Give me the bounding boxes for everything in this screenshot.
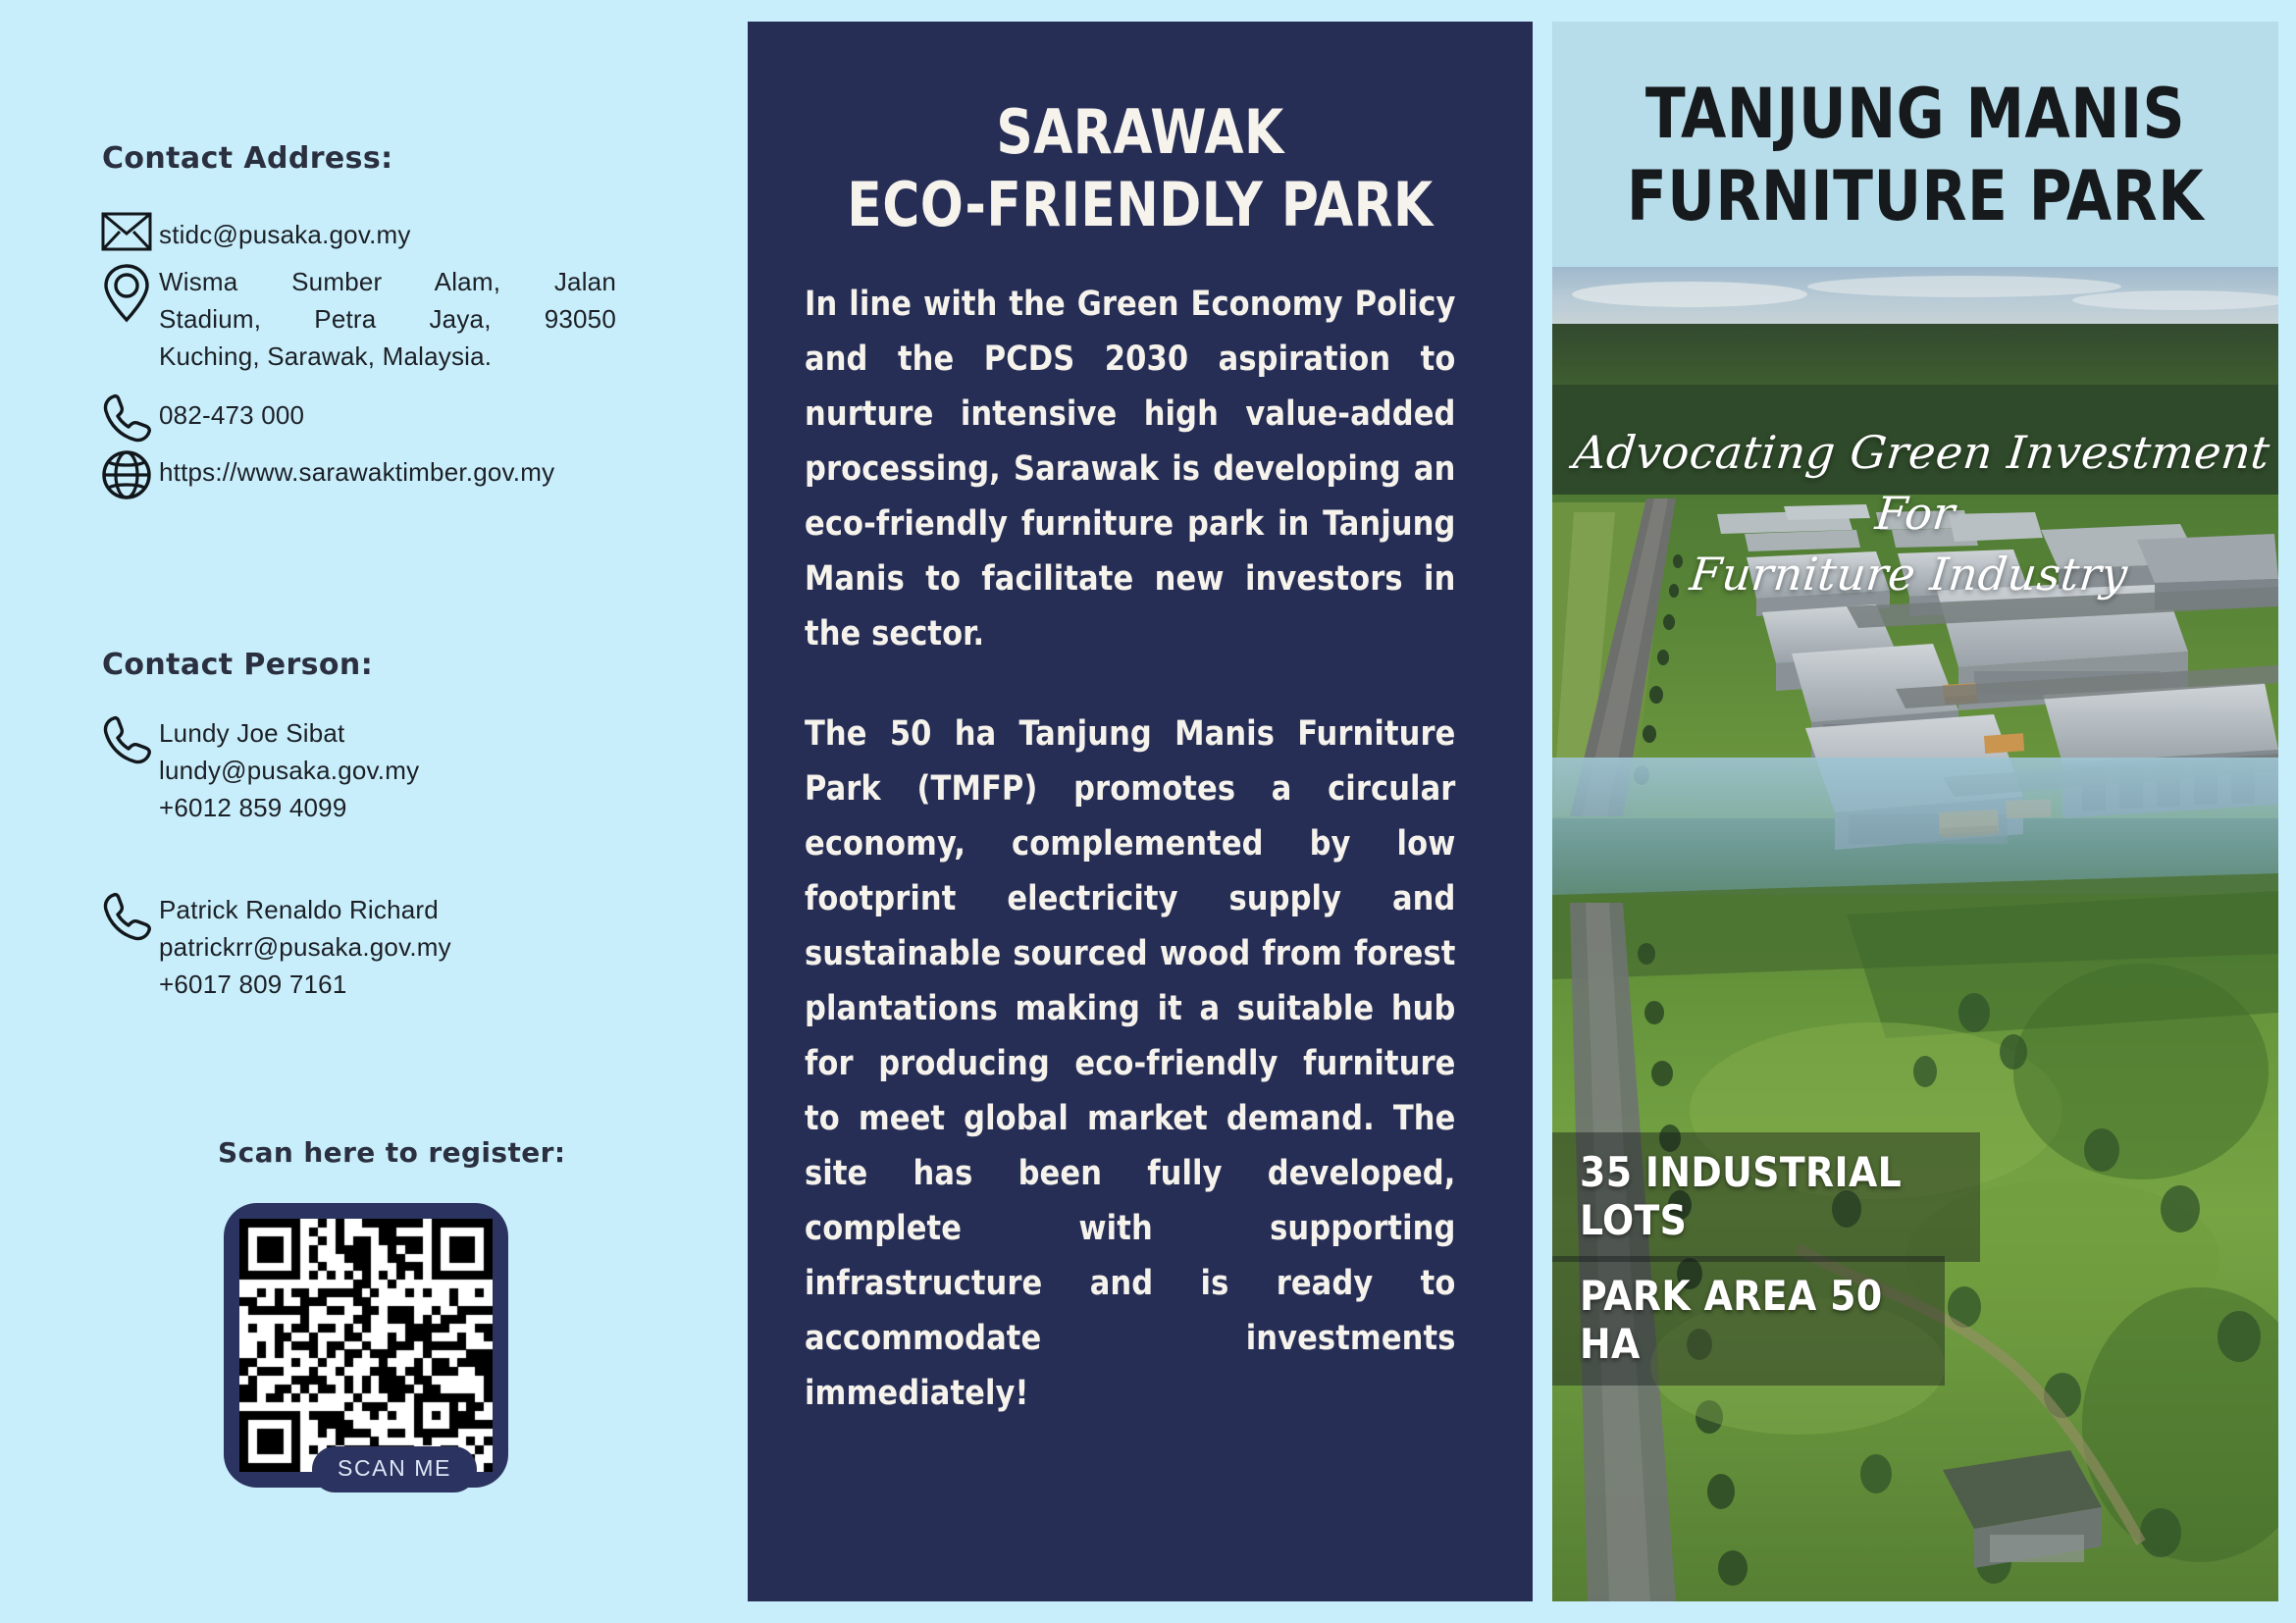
scan-register-heading: Scan here to register: — [218, 1136, 565, 1169]
hero-panel: TANJUNG MANIS FURNITURE PARK — [1552, 22, 2278, 1601]
contact-row-email: stidc@pusaka.gov.my — [94, 212, 411, 253]
scan-me-badge: SCAN ME — [312, 1446, 477, 1492]
center-title: SARAWAK ECO-FRIENDLY PARK — [828, 96, 1452, 241]
phone-icon — [94, 891, 159, 942]
hero-title-line-1: TANJUNG MANIS — [1571, 73, 2261, 155]
hero-title-line-2: FURNITURE PARK — [1571, 155, 2261, 237]
contact-address-value: Wisma Sumber Alam, Jalan Stadium, Petra … — [159, 263, 616, 375]
envelope-icon — [94, 212, 159, 251]
hero-tagline-line-2: Furniture Industry — [1552, 544, 2275, 604]
contact-person-1: Lundy Joe Sibat lundy@pusaka.gov.my +601… — [94, 714, 419, 826]
center-title-line-2: ECO-FRIENDLY PARK — [828, 169, 1452, 241]
location-pin-icon — [94, 263, 159, 324]
center-title-line-1: SARAWAK — [828, 96, 1452, 169]
contact-email-value: stidc@pusaka.gov.my — [159, 212, 411, 253]
contact-phone-value: 082-473 000 — [159, 393, 304, 434]
phone-icon — [94, 714, 159, 765]
person-2-email: patrickrr@pusaka.gov.my — [159, 928, 451, 966]
contact-person-2: Patrick Renaldo Richard patrickrr@pusaka… — [94, 891, 451, 1003]
contact-panel: Contact Address: stidc@pusaka.gov.my — [0, 0, 748, 1623]
brochure-page: Contact Address: stidc@pusaka.gov.my — [0, 0, 2296, 1623]
contact-row-website: https://www.sarawaktimber.gov.my — [94, 449, 554, 500]
contact-person-heading: Contact Person: — [102, 648, 373, 682]
description-panel: SARAWAK ECO-FRIENDLY PARK In line with t… — [748, 22, 1533, 1601]
phone-icon — [94, 393, 159, 444]
person-2-name: Patrick Renaldo Richard — [159, 891, 451, 928]
person-1-email: lundy@pusaka.gov.my — [159, 752, 419, 789]
address-line-2: Stadium, Petra Jaya, 93050 — [159, 300, 616, 338]
address-line-3: Kuching, Sarawak, Malaysia. — [159, 338, 616, 375]
person-1-name: Lundy Joe Sibat — [159, 714, 419, 752]
globe-icon — [94, 449, 159, 500]
contact-person-2-details: Patrick Renaldo Richard patrickrr@pusaka… — [159, 891, 451, 1003]
contact-row-address: Wisma Sumber Alam, Jalan Stadium, Petra … — [94, 263, 616, 375]
center-body: In line with the Green Economy Policy an… — [805, 277, 1455, 1421]
contact-person-1-details: Lundy Joe Sibat lundy@pusaka.gov.my +601… — [159, 714, 419, 826]
fact-industrial-lots: 35 INDUSTRIAL LOTS — [1552, 1132, 1980, 1262]
person-1-phone: +6012 859 4099 — [159, 789, 419, 826]
hero-tagline: Advocating Green Investment For Furnitur… — [1552, 422, 2278, 604]
contact-website-value[interactable]: https://www.sarawaktimber.gov.my — [159, 449, 554, 491]
qr-code[interactable] — [224, 1203, 508, 1488]
fact-park-area: PARK AREA 50 HA — [1552, 1256, 1945, 1386]
center-paragraph-1: In line with the Green Economy Policy an… — [805, 277, 1455, 661]
contact-address-heading: Contact Address: — [102, 141, 393, 176]
person-2-phone: +6017 809 7161 — [159, 966, 451, 1003]
contact-row-phone: 082-473 000 — [94, 393, 304, 444]
qr-code-matrix — [239, 1219, 493, 1472]
center-paragraph-2: The 50 ha Tanjung Manis Furniture Park (… — [805, 707, 1455, 1421]
qr-code-canvas — [239, 1219, 493, 1472]
hero-tagline-line-1: Advocating Green Investment For — [1552, 422, 2278, 544]
hero-title: TANJUNG MANIS FURNITURE PARK — [1571, 73, 2261, 237]
address-line-1: Wisma Sumber Alam, Jalan — [159, 263, 616, 300]
